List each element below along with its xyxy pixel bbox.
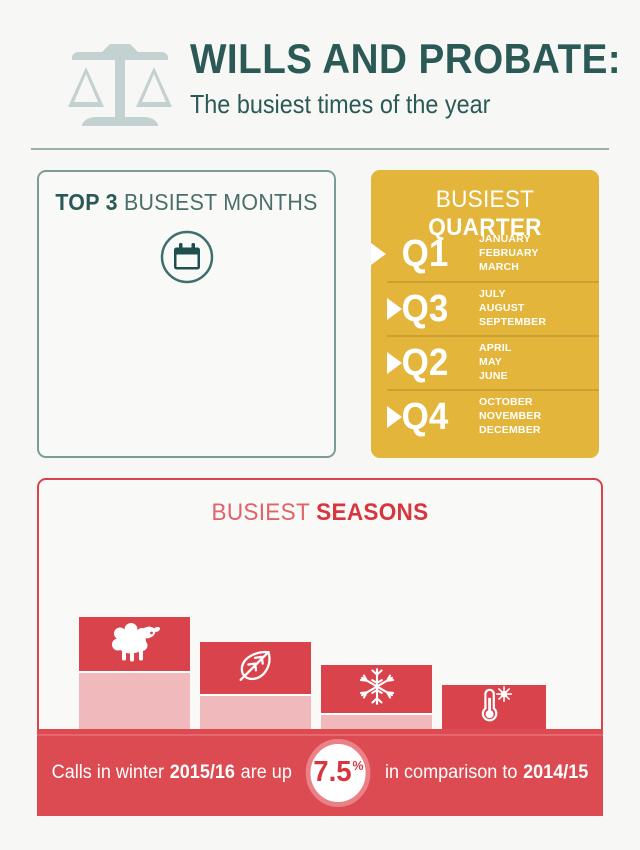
percent-value: 7.5 bbox=[313, 758, 351, 787]
quarter-label: Q3 bbox=[375, 290, 474, 328]
page-title: WILLS AND PROBATE: bbox=[190, 38, 586, 80]
quarter-row: Q2 APRILMAYJUNE bbox=[387, 335, 599, 389]
quarter-row: Q4 OCTOBERNOVEMBERDECEMBER bbox=[387, 389, 599, 443]
page-subtitle: The busiest times of the year bbox=[190, 89, 577, 120]
banner-text-start: Calls in winter bbox=[52, 762, 164, 784]
quarter-months: JULYAUGUSTSEPTEMBER bbox=[479, 288, 546, 330]
season-bar-head bbox=[79, 617, 190, 673]
quarter-label: Q1 bbox=[375, 235, 474, 273]
percent-badge: 7.5 % bbox=[306, 739, 371, 807]
percent-sign: % bbox=[353, 758, 364, 773]
header-text-block: WILLS AND PROBATE: The busiest times of … bbox=[190, 38, 620, 120]
banner-text: Calls in winter 2015/16 are up 7.5 % in … bbox=[51, 729, 589, 816]
quarter-row: Q1 JANUARYFEBRUARYMARCH bbox=[371, 227, 599, 281]
quarter-label: Q2 bbox=[375, 344, 474, 382]
header: WILLS AND PROBATE: The busiest times of … bbox=[0, 0, 640, 152]
quarter-months: JANUARYFEBRUARYMARCH bbox=[479, 233, 539, 275]
busiest-quarter-title-light: BUSIEST bbox=[436, 186, 535, 213]
top-months-title-rest: BUSIEST MONTHS bbox=[118, 189, 318, 215]
season-bar-head bbox=[321, 665, 432, 715]
calendar-icon bbox=[160, 230, 214, 284]
quarter-months: OCTOBERNOVEMBERDECEMBER bbox=[479, 396, 541, 438]
quarter-row: Q3 JULYAUGUSTSEPTEMBER bbox=[387, 281, 599, 335]
banner-year-previous: 2014/15 bbox=[523, 762, 588, 784]
banner-year-current: 2015/16 bbox=[170, 762, 235, 784]
thermometer-sun-icon bbox=[472, 683, 516, 732]
top-months-title-bold: TOP 3 bbox=[55, 189, 117, 215]
quarter-label: Q4 bbox=[375, 398, 474, 436]
busiest-quarter-panel: BUSIEST QUARTER Q1 JANUARYFEBRUARYMARCH … bbox=[371, 170, 599, 458]
season-bar-head bbox=[442, 685, 546, 732]
top-months-title: TOP 3 BUSIEST MONTHS bbox=[49, 189, 323, 216]
season-bar-head bbox=[200, 642, 311, 696]
header-divider bbox=[31, 148, 609, 150]
quarter-rows: Q1 JANUARYFEBRUARYMARCH Q3 JULYAUGUSTSEP… bbox=[371, 227, 599, 443]
banner-text-end: in comparison to bbox=[385, 762, 517, 784]
top-months-panel: TOP 3 BUSIEST MONTHS 1st-January 2nd-Mar… bbox=[37, 170, 336, 458]
stat-banner: Calls in winter 2015/16 are up 7.5 % in … bbox=[37, 729, 603, 816]
banner-text-mid: are up bbox=[241, 762, 292, 784]
scales-of-justice-icon bbox=[66, 31, 174, 136]
leaf-icon bbox=[234, 644, 278, 693]
quarter-months: APRILMAYJUNE bbox=[479, 342, 512, 384]
snowflake-icon bbox=[356, 666, 398, 713]
sheep-icon bbox=[109, 620, 161, 669]
